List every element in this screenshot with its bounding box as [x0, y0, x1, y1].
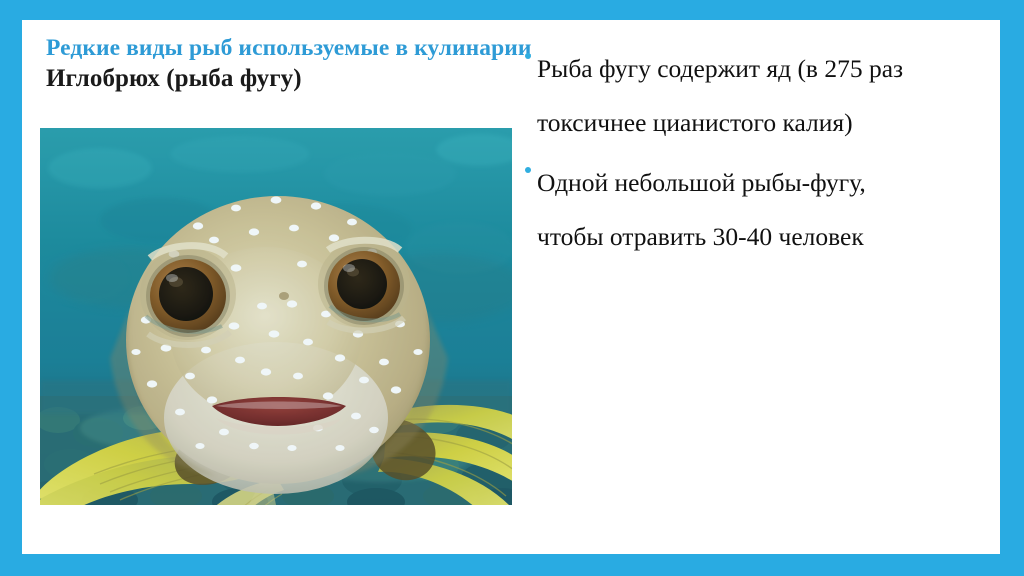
pufferfish-illustration — [40, 128, 512, 505]
bullet-line: Одной небольшой рыбы-фугу, — [537, 156, 977, 210]
bullet-line: токсичнее цианистого калия) — [537, 96, 977, 150]
list-item: Рыба фугу содержит яд (в 275 раз токсичн… — [525, 42, 977, 150]
bullet-line: Рыба фугу содержит яд (в 275 раз — [537, 42, 977, 96]
bullet-text: Рыба фугу содержит яд (в 275 раз токсичн… — [537, 42, 977, 150]
bullet-dot-icon — [525, 42, 537, 59]
pufferfish-photo — [40, 128, 512, 505]
list-item: Одной небольшой рыбы-фугу, чтобы отравит… — [525, 156, 977, 264]
bullet-dot-icon — [525, 156, 537, 173]
bullet-line: чтобы отравить 30-40 человек — [537, 210, 977, 264]
bullet-text: Одной небольшой рыбы-фугу, чтобы отравит… — [537, 156, 977, 264]
bullet-list: Рыба фугу содержит яд (в 275 раз токсичн… — [525, 42, 977, 270]
slide-canvas: Редкие виды рыб используемые в кулинарии… — [22, 20, 1000, 554]
slide-frame: Редкие виды рыб используемые в кулинарии… — [0, 0, 1024, 576]
